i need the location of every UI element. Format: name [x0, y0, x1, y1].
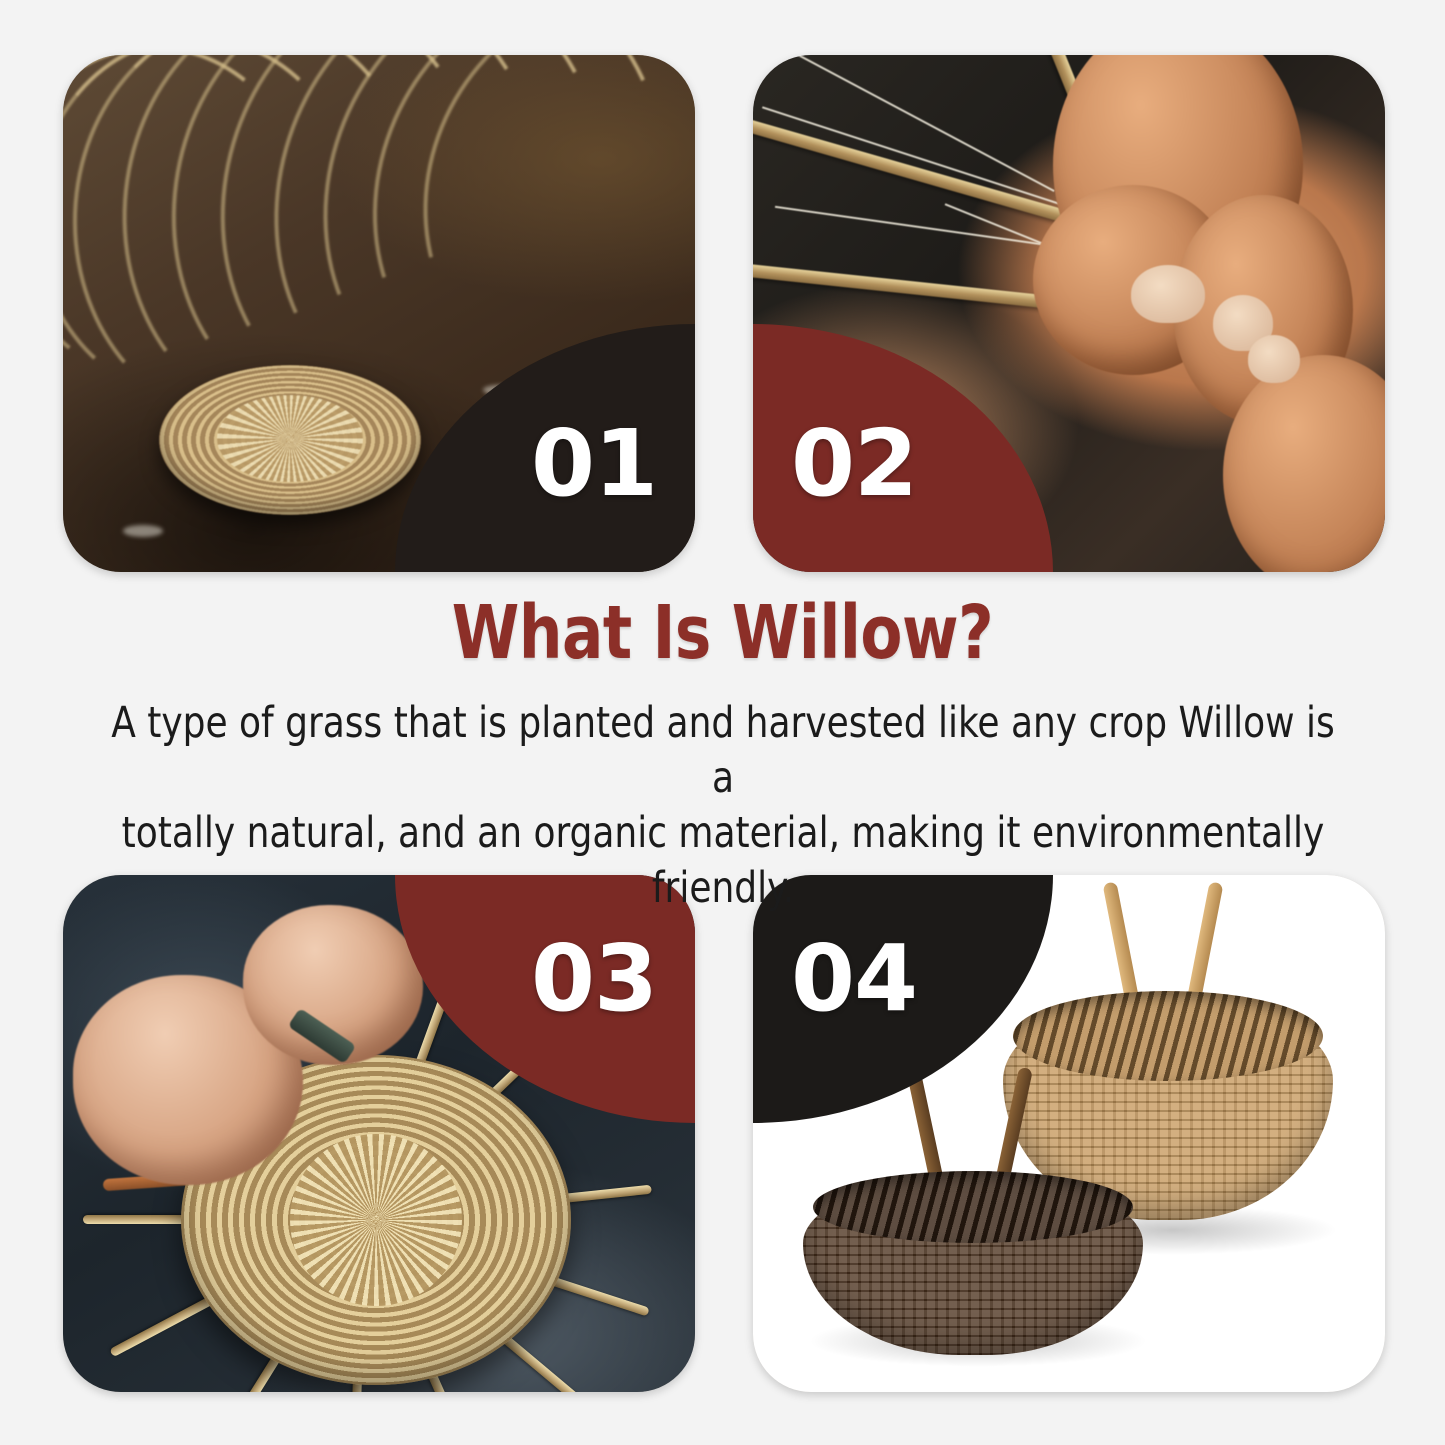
description-line-2: totally natural, and an organic material… [109, 806, 1337, 916]
step-number-text: 02 [791, 418, 917, 510]
step-card-04[interactable]: 04 [753, 875, 1385, 1392]
step-card-03[interactable]: 03 [63, 875, 695, 1392]
woven-basket-base [159, 365, 421, 515]
infographic-stage: 01 02 [0, 0, 1445, 1445]
step-number-text: 01 [531, 418, 657, 510]
step-number-text: 04 [791, 933, 917, 1025]
step-card-01[interactable]: 01 [63, 55, 695, 572]
wicker-basket-dark [803, 1175, 1143, 1355]
step-number-badge-01: 01 [395, 324, 695, 572]
step-number-badge-02: 02 [753, 324, 1053, 572]
step-number-text: 03 [531, 933, 657, 1025]
text-block: What Is Willow? A type of grass that is … [0, 596, 1445, 916]
page-title: What Is Willow? [58, 596, 1387, 670]
description-paragraph: A type of grass that is planted and harv… [109, 696, 1337, 916]
description-line-1: A type of grass that is planted and harv… [109, 696, 1337, 806]
step-card-02[interactable]: 02 [753, 55, 1385, 572]
